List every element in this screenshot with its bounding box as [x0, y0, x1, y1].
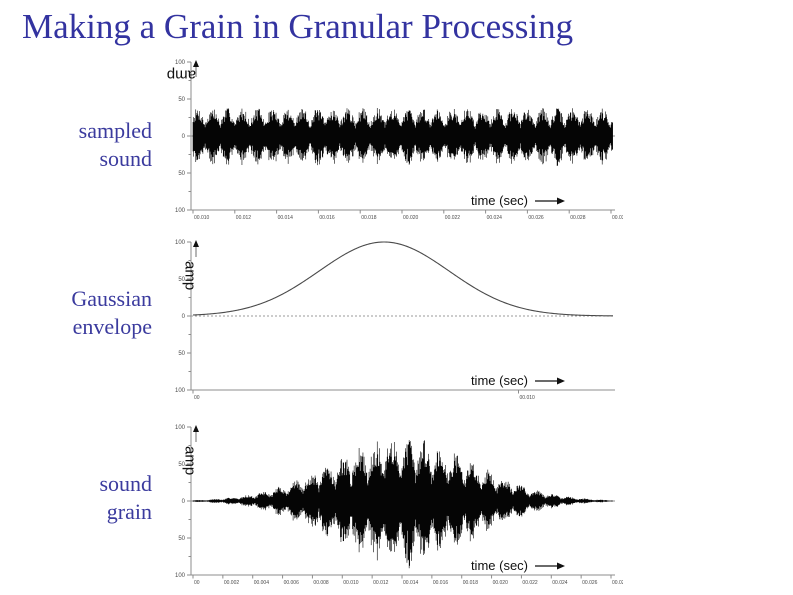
y-axis-annotation: amp: [182, 240, 199, 290]
waveform-path: [193, 108, 613, 166]
x-tick-label: 00.016: [319, 215, 335, 221]
y-tick-label: 100: [175, 388, 186, 394]
x-tick-label: 00.028: [612, 580, 623, 586]
chart-sampled-sound: 1005005010000.01000.01200.01400.01600.01…: [163, 55, 623, 230]
page-title: Making a Grain in Granular Processing: [22, 6, 772, 48]
x-tick-label: 00.010: [194, 215, 210, 221]
x-tick-label: 00.026: [582, 580, 598, 586]
y-tick-label: 100: [175, 208, 186, 214]
x-tick-label: 00.026: [528, 215, 544, 221]
y-tick-label: 100: [175, 60, 186, 66]
x-tick-label: 00.012: [373, 580, 389, 586]
x-tick-label: 00.012: [236, 215, 252, 221]
x-axis-annotation: time (sec): [471, 373, 565, 388]
y-axis-label: amp: [167, 67, 196, 84]
waveform-sound-grain: [193, 440, 613, 568]
x-tick-label: 00.016: [433, 580, 449, 586]
x-axis-label: time (sec): [471, 373, 528, 388]
chart-gaussian-envelope: 100500501000000.010 amp time (sec): [163, 235, 623, 410]
curve-gaussian-envelope: [193, 242, 613, 316]
y-tick-label: 0: [182, 134, 186, 140]
x-tick-label: 00.010: [343, 580, 359, 586]
waveform-sampled-sound: [193, 108, 613, 166]
x-axis-label: time (sec): [471, 193, 528, 208]
x-axis-annotation: time (sec): [471, 193, 565, 208]
x-tick-label: 00.030: [612, 215, 623, 221]
x-tick-label: 00.004: [254, 580, 270, 586]
row-label-sound-grain-line1: sound: [4, 470, 152, 498]
x-tick-label: 00.006: [284, 580, 300, 586]
x-tick-label: 00.020: [403, 215, 419, 221]
y-axis-label: amp: [182, 446, 199, 475]
row-label-sound-grain: sound grain: [4, 470, 152, 526]
chart-axes: [187, 242, 615, 390]
x-tick-label: 00.014: [403, 580, 419, 586]
y-axis-annotation: amp: [182, 425, 199, 475]
x-tick-label: 00.028: [570, 215, 586, 221]
row-label-gaussian-envelope-line2: envelope: [4, 313, 152, 341]
chart-sound-grain: 100500501000000.00200.00400.00600.00800.…: [163, 420, 623, 595]
y-tick-label: 100: [175, 573, 186, 579]
y-tick-label: 50: [178, 536, 185, 542]
x-tick-label: 00: [194, 580, 200, 586]
slide: Making a Grain in Granular Processing sa…: [0, 0, 793, 594]
x-tick-label: 00.014: [278, 215, 294, 221]
row-label-sound-grain-line2: grain: [4, 498, 152, 526]
x-tick-label: 00.018: [361, 215, 377, 221]
row-label-gaussian-envelope: Gaussian envelope: [4, 285, 152, 341]
x-tick-label: 00.024: [487, 215, 503, 221]
x-tick-label: 00.022: [522, 580, 538, 586]
y-tick-label: 100: [175, 240, 186, 246]
x-tick-label: 00.024: [552, 580, 568, 586]
row-label-sampled-sound-line1: sampled: [4, 117, 152, 145]
row-label-sampled-sound-line2: sound: [4, 145, 152, 173]
x-tick-label: 00.008: [313, 580, 329, 586]
x-tick-label: 00.020: [493, 580, 509, 586]
x-axis-label: time (sec): [471, 558, 528, 573]
x-tick-label: 00.018: [463, 580, 479, 586]
y-tick-label: 0: [182, 499, 186, 505]
y-axis-label: amp: [182, 261, 199, 290]
x-tick-label: 00: [194, 395, 200, 401]
gaussian-curve-path: [193, 242, 613, 316]
x-tick-label: 00.022: [445, 215, 461, 221]
y-tick-label: 0: [182, 314, 186, 320]
row-label-gaussian-envelope-line1: Gaussian: [4, 285, 152, 313]
y-tick-label: 50: [178, 97, 185, 103]
y-tick-label: 100: [175, 425, 186, 431]
y-tick-label: 50: [178, 351, 185, 357]
x-tick-label: 00.010: [520, 395, 536, 401]
waveform-path: [193, 440, 613, 568]
x-tick-label: 00.002: [224, 580, 240, 586]
y-tick-label: 50: [178, 171, 185, 177]
x-axis-annotation: time (sec): [471, 558, 565, 573]
row-label-sampled-sound: sampled sound: [4, 117, 152, 173]
